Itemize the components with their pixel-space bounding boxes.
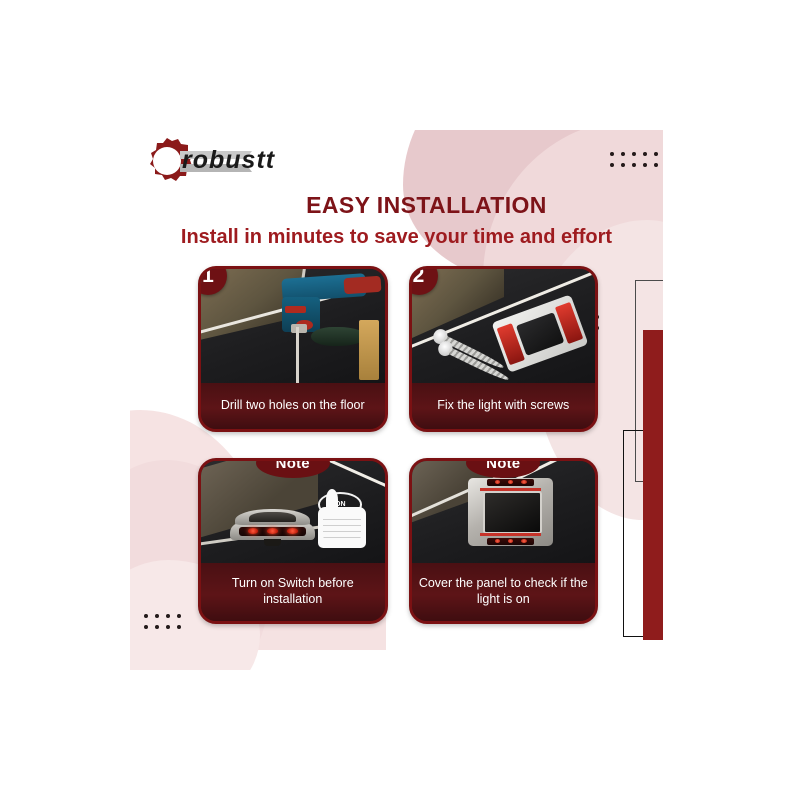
step-caption-1: Drill two holes on the floor — [201, 383, 385, 429]
step-card-4[interactable]: Note — [409, 458, 599, 624]
edge-red-bar — [643, 330, 663, 640]
step-image-2 — [412, 269, 596, 385]
steps-row-top: 1 — [198, 266, 598, 432]
hand-pointer-icon — [318, 507, 366, 549]
step-card-1[interactable]: 1 — [198, 266, 388, 432]
steps-grid: 1 — [198, 266, 598, 624]
page-title: EASY INSTALLATION — [130, 192, 663, 219]
step-caption-4: Cover the panel to check if the light is… — [412, 563, 596, 621]
step-card-2[interactable]: 2 — [409, 266, 599, 432]
dots-bottom-left — [144, 614, 181, 629]
page-subtitle: Install in minutes to save your time and… — [130, 226, 663, 249]
infographic-artboard: robustt EASY INSTALLATION Install in min… — [130, 130, 663, 670]
step-card-3[interactable]: Note — [198, 458, 388, 624]
steps-row-bottom: Note — [198, 458, 598, 624]
gear-icon: robustt — [134, 134, 314, 188]
brand-logo: robustt — [134, 134, 314, 188]
step-caption-3: Turn on Switch before installation — [201, 563, 385, 621]
step-image-1 — [201, 269, 385, 385]
step-caption-2: Fix the light with screws — [412, 383, 596, 429]
dots-top-right — [610, 152, 663, 167]
brand-wordmark: robustt — [182, 146, 276, 174]
page-canvas: robustt EASY INSTALLATION Install in min… — [0, 0, 800, 800]
